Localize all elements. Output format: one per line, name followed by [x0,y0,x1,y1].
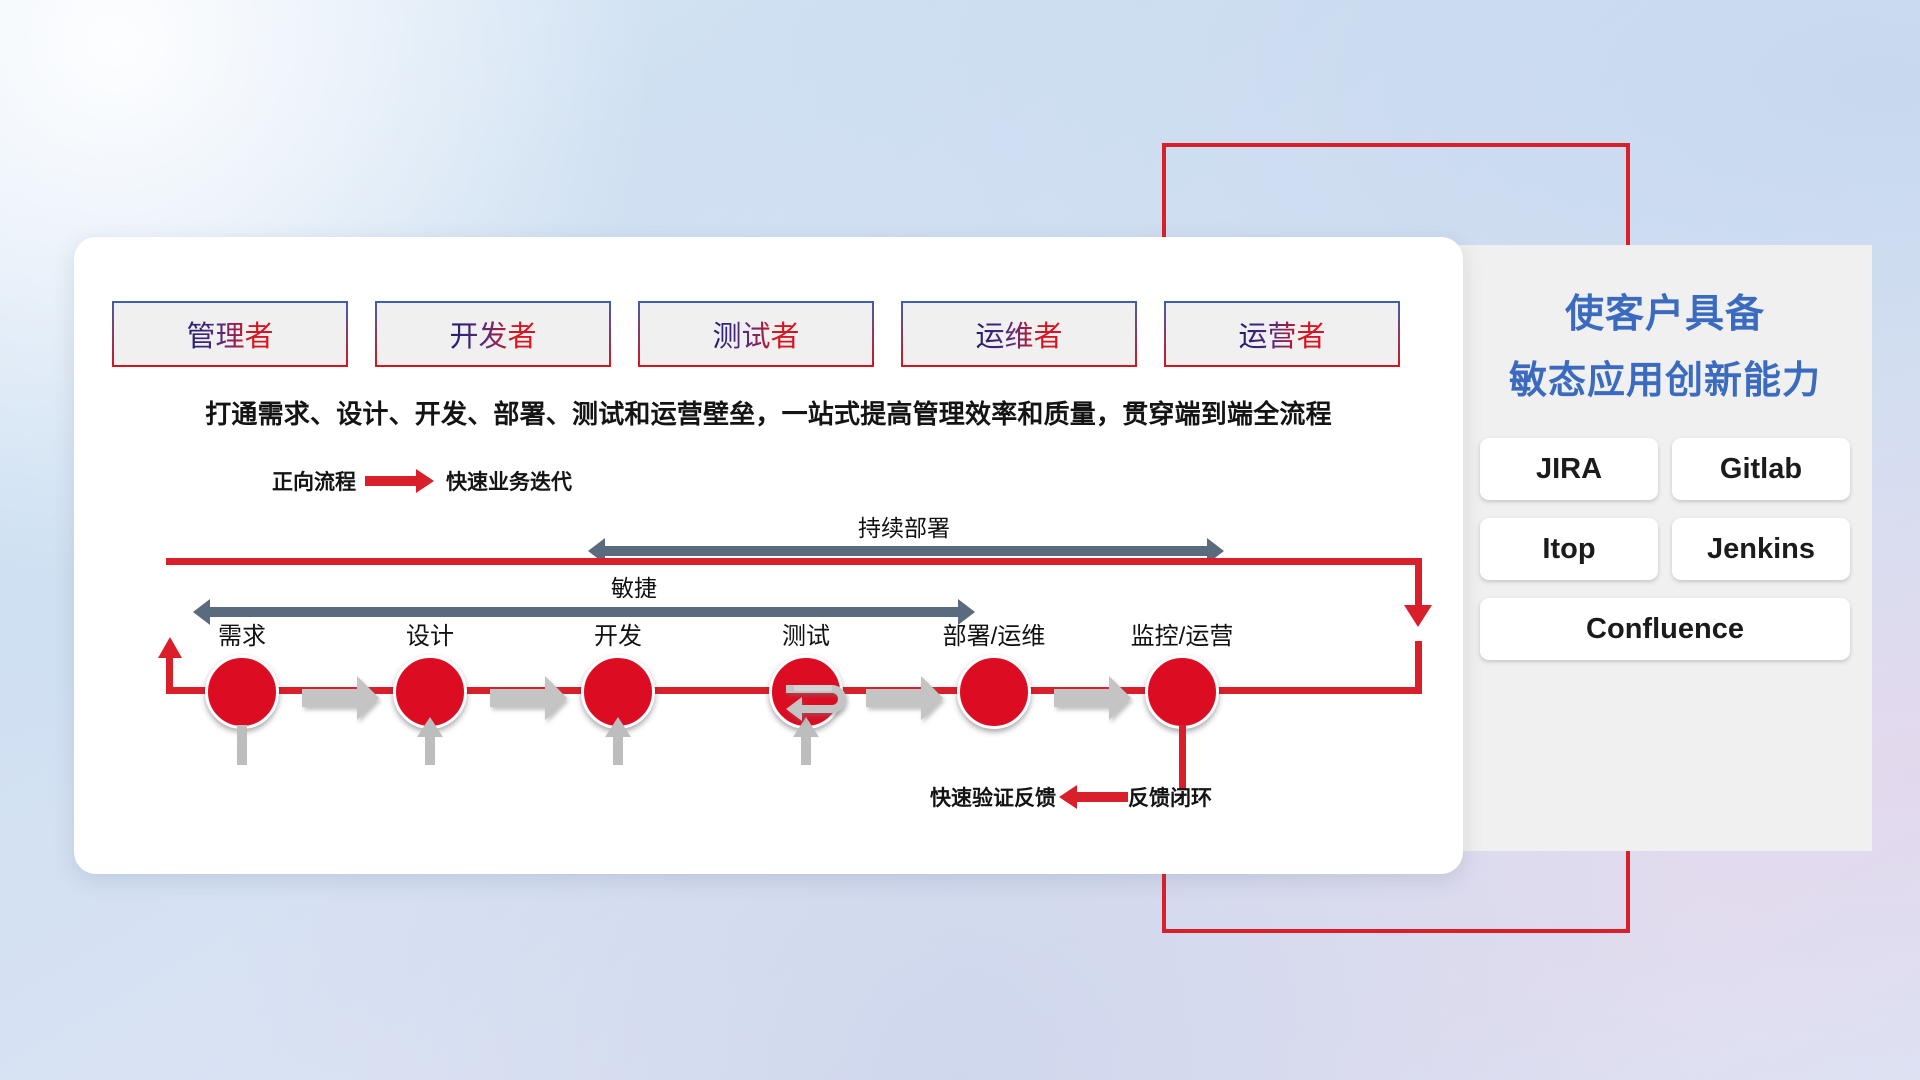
pipeline-stage[interactable]: 监控/运营 [1122,625,1242,729]
tools-panel-heading-line1: 使客户具备 [1458,295,1872,334]
double-arrow-continuous-deployment-icon [604,546,1208,556]
loop-back-arrow-icon [784,669,876,735]
double-arrow-agile-icon [209,607,959,617]
role-box[interactable]: 开发者 [375,301,611,367]
tool-chip[interactable]: Gitlab [1672,438,1850,500]
pipeline-stage-label: 监控/运营 [1122,625,1242,649]
pipeline-stage-label: 测试 [746,625,866,649]
tool-chip-label: Itop [1542,533,1595,566]
roles-row: 管理者开发者测试者运维者运营者 [112,301,1400,367]
pipeline-stage-label: 开发 [558,625,678,649]
pipeline-flow-arrow-icon [1054,689,1110,707]
role-label: 测试者 [712,313,799,355]
pipeline-stage[interactable]: 开发 [558,625,678,729]
pipeline-stage-feedback-arrowhead-icon [605,717,631,737]
tools-panel: 使客户具备 敏态应用创新能力 JIRAGitlabItopJenkinsConf… [1458,245,1872,851]
pipeline-stage-label: 部署/运维 [934,625,1054,649]
tool-chip[interactable]: Itop [1480,518,1658,580]
feedback-loop-right-line [1415,558,1422,612]
role-label: 运维者 [975,313,1062,355]
legend-forward-left-label: 正向流程 [272,466,356,496]
span-label-continuous-deployment: 持续部署 [774,509,1034,543]
pipeline-flow-arrow-icon [490,689,546,707]
role-label: 开发者 [449,313,536,355]
red-arrow-right-icon [365,476,417,486]
tool-chip[interactable]: Confluence [1480,598,1850,660]
legend-feedback-left-label: 快速验证反馈 [930,782,1056,812]
pipeline-stage-feedback-stem [237,725,247,765]
pipeline-stage-node[interactable] [957,655,1031,729]
main-card: 管理者开发者测试者运维者运营者 打通需求、设计、开发、部署、测试和运营壁垒，一站… [74,237,1463,874]
tool-chip-label: Confluence [1586,613,1744,646]
pipeline-stage-label: 需求 [182,625,302,649]
role-label: 运营者 [1238,313,1325,355]
pipeline-stage-node[interactable] [1145,655,1219,729]
legend-forward-flow: 正向流程 快速业务迭代 [272,466,572,496]
role-box[interactable]: 运维者 [901,301,1137,367]
red-arrow-left-icon [1076,792,1128,802]
feedback-loop-down-arrowhead-icon [1404,605,1432,627]
tools-panel-heading-line2: 敏态应用创新能力 [1458,362,1872,400]
tools-chip-grid: JIRAGitlabItopJenkinsConfluence [1458,438,1872,660]
pipeline-stage[interactable]: 部署/运维 [934,625,1054,729]
feedback-loop-top-line [166,558,1422,565]
pipeline-stage-loop-connector [1179,725,1186,789]
tool-chip[interactable]: JIRA [1480,438,1658,500]
card-subtitle: 打通需求、设计、开发、部署、测试和运营壁垒，一站式提高管理效率和质量，贯穿端到端… [74,394,1463,431]
legend-feedback-loop: 快速验证反馈 反馈闭环 [930,782,1212,812]
span-label-agile: 敏捷 [504,569,764,603]
pipeline: 需求设计开发测试部署/运维监控/运营 [74,625,1463,735]
pipeline-flow-arrow-icon [866,689,922,707]
pipeline-stage-label: 设计 [370,625,490,649]
role-box[interactable]: 管理者 [112,301,348,367]
tool-chip-label: Gitlab [1720,453,1802,486]
role-box[interactable]: 运营者 [1164,301,1400,367]
role-label: 管理者 [186,313,273,355]
pipeline-stage-feedback-arrowhead-icon [417,717,443,737]
pipeline-stage-node[interactable] [205,655,279,729]
pipeline-flow-arrow-icon [302,689,358,707]
legend-feedback-right-label: 反馈闭环 [1128,782,1212,812]
tool-chip-label: JIRA [1536,453,1602,486]
tool-chip-label: Jenkins [1707,533,1815,566]
role-box[interactable]: 测试者 [638,301,874,367]
pipeline-stage[interactable]: 设计 [370,625,490,729]
legend-forward-right-label: 快速业务迭代 [446,466,572,496]
pipeline-stage[interactable]: 需求 [182,625,302,729]
tool-chip[interactable]: Jenkins [1672,518,1850,580]
